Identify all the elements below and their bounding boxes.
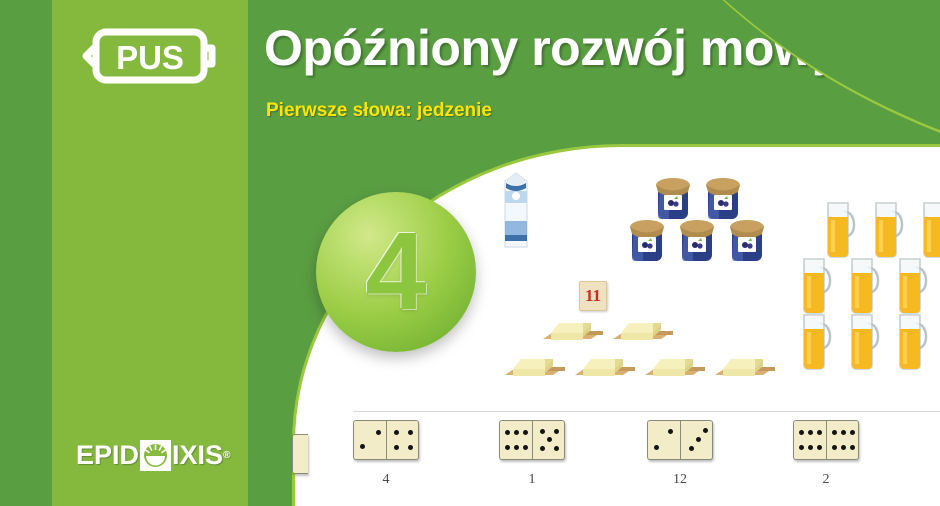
jam-jar: [725, 213, 769, 265]
domino-tile: [353, 420, 419, 460]
domino-tile: [793, 420, 859, 460]
pus-logo: PUS: [82, 24, 218, 88]
domino-half-left: [794, 421, 827, 459]
domino-tile: [647, 420, 713, 460]
juice-pitcher: [799, 255, 839, 315]
number-tile: 11: [579, 281, 607, 311]
domino-label: 4: [326, 472, 446, 488]
domino-answer-row: 4: [248, 420, 940, 500]
domino-half-right: [533, 421, 566, 459]
illustration-panel: 11: [248, 0, 940, 506]
juice-pitcher: [895, 311, 935, 371]
domino-half-right: [827, 421, 860, 459]
exercise-number: 4: [316, 192, 476, 352]
juice-pitcher: [895, 255, 935, 315]
milk-carton: [501, 169, 531, 249]
butter-block: [573, 351, 637, 385]
domino-label: 1: [472, 472, 592, 488]
pus-logo-text: PUS: [116, 39, 184, 76]
butter-block: [503, 351, 567, 385]
domino-label: 12: [620, 472, 740, 488]
epideixis-name-left: EPID: [76, 440, 139, 471]
pus-card-cover: PUS Opóźniony rozwój mowy Pierwsze słowa…: [0, 0, 940, 506]
domino-item[interactable]: 2: [766, 420, 886, 488]
butter-block: [611, 315, 675, 349]
juice-pitcher: [919, 199, 940, 259]
domino-tile: [499, 420, 565, 460]
jam-jar: [675, 213, 719, 265]
domino-half-left: [648, 421, 681, 459]
registered-mark: ®: [223, 450, 230, 461]
epideixis-logo: EPID IXIS ®: [76, 434, 236, 476]
exercise-number-ball: 4: [316, 192, 476, 352]
epideixis-name-right: IXIS: [172, 440, 223, 471]
domino-item[interactable]: 4: [326, 420, 446, 488]
domino-half-left: [500, 421, 533, 459]
juice-pitcher: [871, 199, 911, 259]
juice-pitcher: [823, 199, 863, 259]
domino-item[interactable]: 12: [620, 420, 740, 488]
butter-block: [713, 351, 777, 385]
domino-half-right: [387, 421, 420, 459]
jam-jar: [625, 213, 669, 265]
juice-pitcher: [847, 311, 887, 371]
butter-block: [541, 315, 605, 349]
juice-pitcher: [847, 255, 887, 315]
content-divider: [353, 411, 940, 412]
domino-half-left: [354, 421, 387, 459]
butter-block: [643, 351, 707, 385]
juice-pitcher: [799, 311, 839, 371]
domino-item[interactable]: 1: [472, 420, 592, 488]
sunrise-icon: [140, 440, 171, 471]
domino-label: 2: [766, 472, 886, 488]
domino-half-right: [681, 421, 714, 459]
